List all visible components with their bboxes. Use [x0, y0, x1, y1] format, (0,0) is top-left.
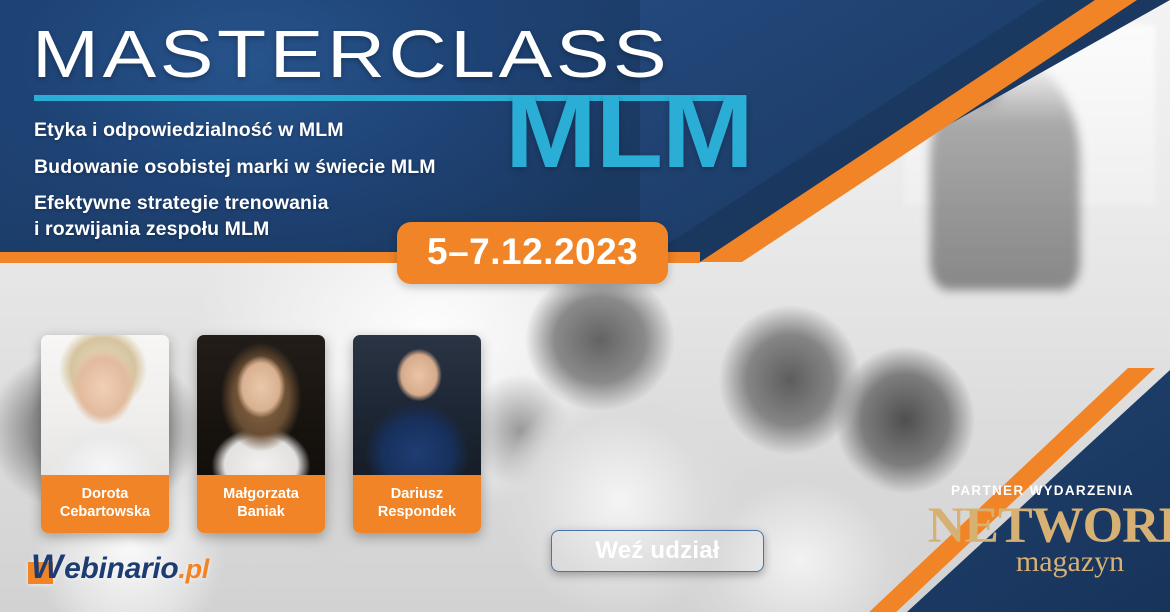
event-date-badge: 5–7.12.2023 — [397, 222, 668, 284]
speaker-last-name: Respondek — [357, 504, 477, 522]
title-accent: MLM — [505, 86, 753, 180]
speaker-name: Małgorzata Baniak — [197, 475, 325, 533]
partner-logo-name: NETWORK — [928, 500, 1158, 552]
speaker-name: Dorota Cebartowska — [41, 475, 169, 533]
speaker-last-name: Cebartowska — [45, 504, 165, 522]
webinario-logo[interactable]: W ebinario .pl — [30, 550, 209, 584]
topic-item: Budowanie osobistej marki w świecie MLM — [34, 155, 504, 181]
speaker-first-name: Małgorzata — [201, 486, 321, 504]
speaker-photo — [197, 335, 325, 475]
speaker-card[interactable]: Dorota Cebartowska — [41, 335, 169, 533]
speaker-card[interactable]: Dariusz Respondek — [353, 335, 481, 533]
topic-item: Efektywne strategie trenowania — [34, 191, 504, 217]
title-block: MASTERCLASS — [32, 23, 564, 87]
speaker-card[interactable]: Małgorzata Baniak — [197, 335, 325, 533]
speaker-name: Dariusz Respondek — [353, 475, 481, 533]
partner-kicker: PARTNER WYDARZENIA — [930, 483, 1155, 498]
speaker-last-name: Baniak — [201, 504, 321, 522]
logo-initial: W — [30, 550, 64, 584]
partner-block: PARTNER WYDARZENIA NETWORK magazyn — [930, 483, 1155, 577]
promo-banner: MASTERCLASS MLM Etyka i odpowiedzialność… — [0, 0, 1170, 612]
logo-wordmark: ebinario — [64, 554, 178, 584]
speaker-list: Dorota Cebartowska Małgorzata Baniak Dar… — [41, 335, 481, 533]
logo-tld: .pl — [178, 556, 209, 583]
speaker-photo — [353, 335, 481, 475]
speaker-photo — [41, 335, 169, 475]
speaker-first-name: Dariusz — [357, 486, 477, 504]
topic-item: Etyka i odpowiedzialność w MLM — [34, 118, 504, 144]
speaker-first-name: Dorota — [45, 486, 165, 504]
register-button[interactable]: Weź udział — [551, 530, 764, 572]
